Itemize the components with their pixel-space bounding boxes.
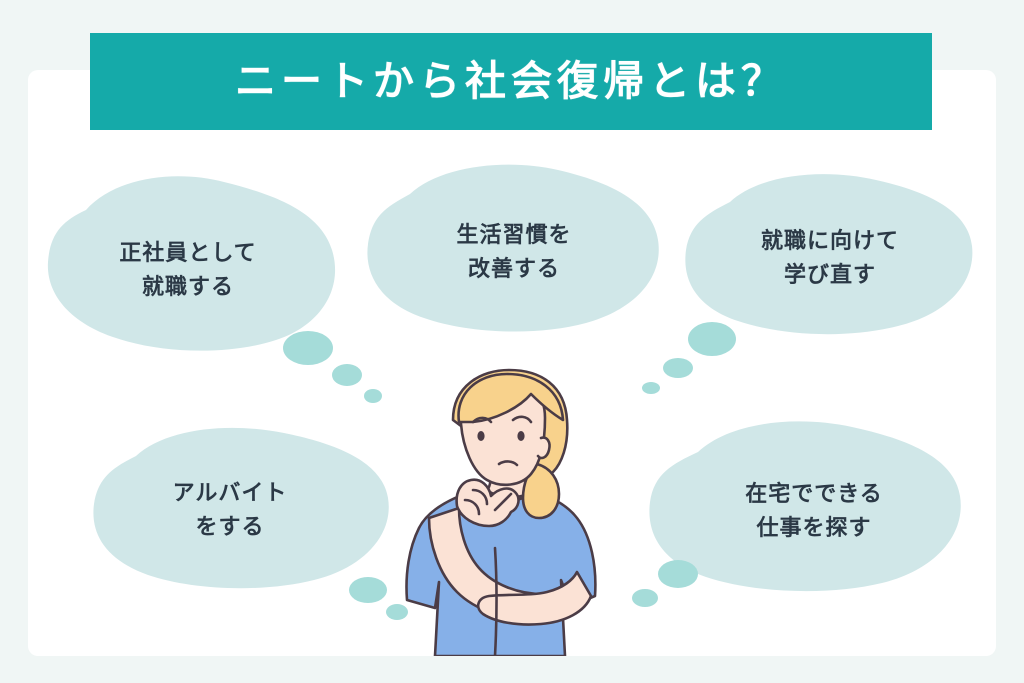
thought-bubble-zaitaku: 在宅でできる 仕事を探す [648,424,964,594]
bubble-dot-medium [332,364,362,386]
page-title: ニートから社会復帰とは？ [235,61,787,102]
bubble-shape-icon [366,166,662,334]
bubble-shape-icon [684,176,976,336]
thought-bubble-arubaito: アルバイト をする [92,430,392,590]
thought-bubble-seikatsu: 生活習慣を 改善する [366,166,662,334]
eye-right [517,431,524,441]
bubble-shape-icon [92,430,392,590]
bubble-dot-large [688,322,736,356]
bubble-dot-large [349,577,387,603]
thought-bubble-seishain: 正社員として 就職する [44,176,344,356]
bubble-dot-small [364,389,382,403]
thought-bubble-manabinaoshi: 就職に向けて 学び直す [684,176,976,336]
bubble-dot-medium [663,358,693,378]
slide-canvas: ニートから社会復帰とは？ 正社員として 就職する 生活習慣を 改善する [0,0,1024,683]
eye-left [477,431,484,441]
bubble-shape-icon [648,424,964,594]
bubble-dot-large [658,560,698,588]
bubble-dot-large [283,331,333,365]
thinking-person-illustration [395,368,645,656]
title-banner: ニートから社会復帰とは？ [90,33,932,130]
bubble-shape-icon [44,176,344,356]
